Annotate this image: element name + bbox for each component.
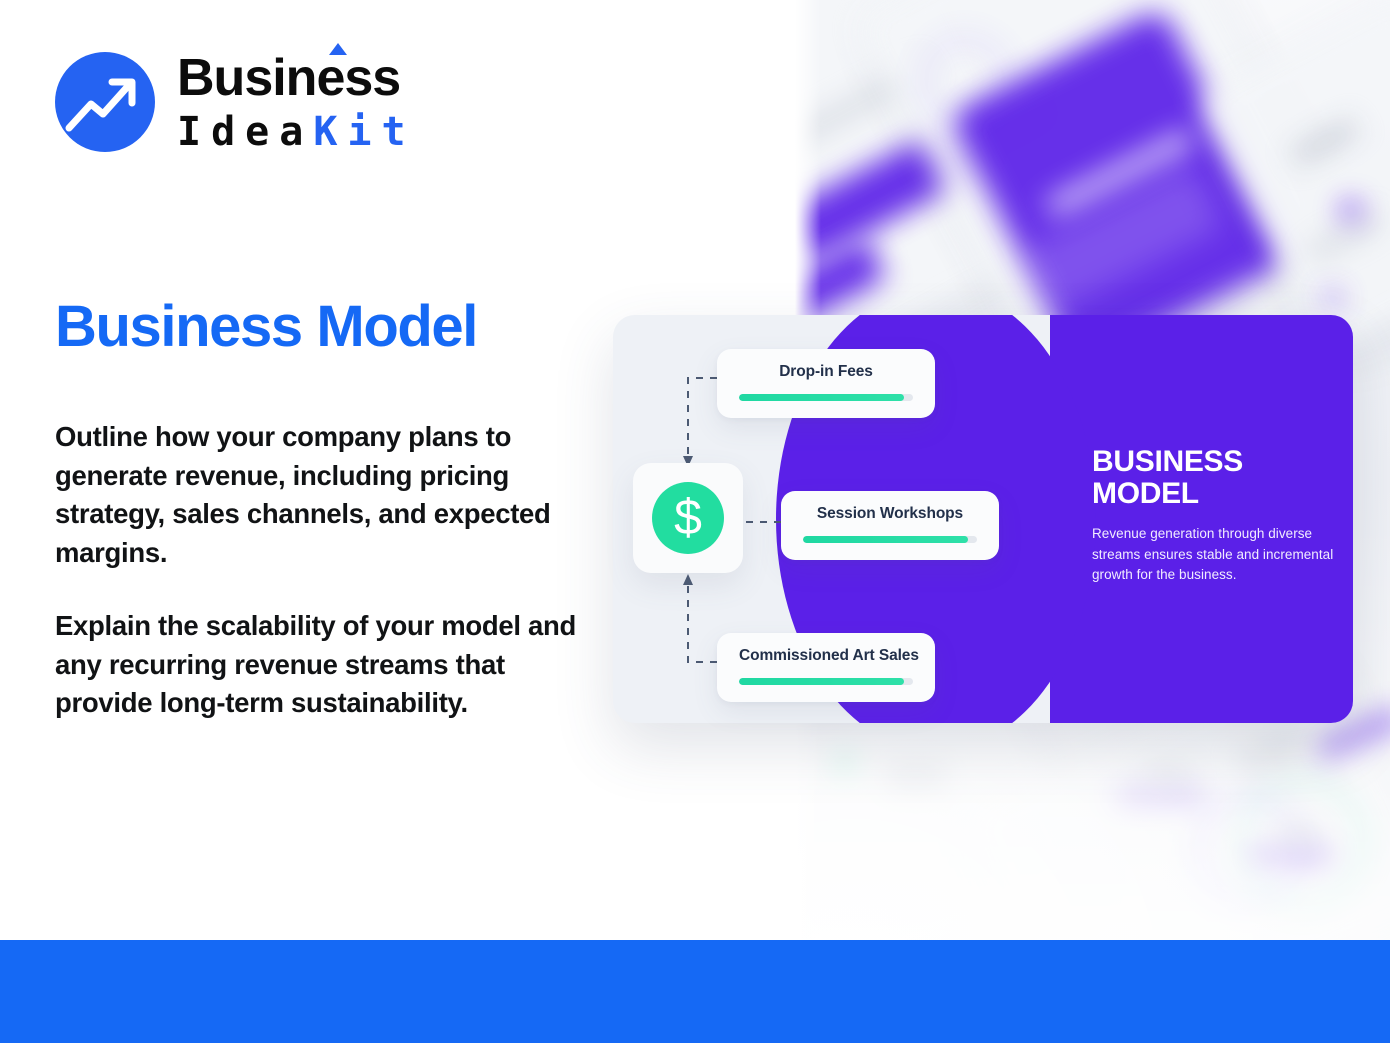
node-progress-fill [739,678,904,685]
logo-word-business: Business [177,52,416,104]
node-progress-track [803,536,977,543]
node-label: Session Workshops [803,505,977,523]
footer-bar [0,940,1390,1043]
purple-panel-title-line-1: BUSINESS [1092,446,1342,478]
purple-panel-title-line-2: MODEL [1092,478,1342,510]
trending-up-arrow-icon [55,52,155,152]
revenue-node-card[interactable]: Commissioned Art Sales [717,633,935,702]
purple-panel-content: BUSINESS MODEL Revenue generation throug… [1092,446,1342,586]
node-progress-track [739,394,913,401]
node-progress-fill [739,394,904,401]
logo-word-kit: Kit [313,109,415,155]
purple-panel-description: Revenue generation through diverse strea… [1092,524,1342,586]
node-label: Drop-in Fees [739,363,913,381]
revenue-node-card[interactable]: Session Workshops [781,491,999,560]
body-paragraph-2: Explain the scalability of your model an… [55,607,585,723]
revenue-node-card[interactable]: Drop-in Fees [717,349,935,418]
body-paragraph-1: Outline how your company plans to genera… [55,418,585,572]
logo-word-idea: Idea [177,109,313,155]
slide-page: Business IdeaKit Business Model Outline … [0,0,1390,1043]
dollar-sign-icon: $ [652,482,724,554]
logo-word-idea-kit: IdeaKit [177,112,416,152]
node-progress-track [739,678,913,685]
node-progress-fill [803,536,968,543]
logo-circumflex-accent [329,43,347,55]
revenue-hub: $ [633,463,743,573]
svg-text:$: $ [674,492,702,544]
purple-panel-title: BUSINESS MODEL [1092,446,1342,510]
node-label: Commissioned Art Sales [739,647,913,665]
brand-logo: Business IdeaKit [55,52,416,152]
page-title: Business Model [55,297,477,358]
